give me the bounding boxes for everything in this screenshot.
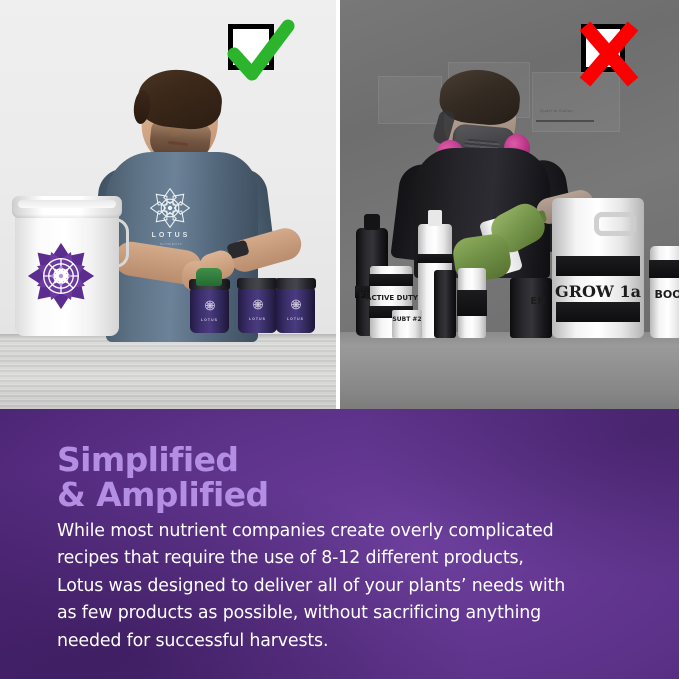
bottle-tape-label — [457, 290, 487, 316]
wall-paper-note — [378, 76, 442, 124]
bottle-neck — [428, 210, 442, 226]
body-line: as few products as possible, without sac… — [57, 600, 597, 627]
headline: Simplified & Amplified — [57, 442, 269, 512]
headline-line-2: & Amplified — [57, 477, 269, 512]
jug-tape-label — [649, 260, 679, 278]
white-small-bottle — [458, 268, 486, 338]
x-mark-icon — [581, 24, 633, 80]
lotus-jar: LOTUS — [276, 287, 315, 333]
tshirt-brand-wordmark: LOTUS — [146, 232, 196, 239]
lotus-jar: LOTUS — [190, 288, 229, 333]
lotus-jar: LOTUS — [238, 287, 277, 333]
dark-small-bottle — [434, 270, 456, 338]
bottle-cap — [364, 214, 380, 230]
body-line: needed for successful harvests. — [57, 628, 597, 655]
check-glyph — [228, 24, 298, 86]
bottle-tape-label — [417, 254, 453, 263]
body-line: While most nutrient companies create ove… — [57, 518, 597, 545]
photo-comparison-strip: LOTUS NUTRIENTS — [0, 0, 679, 409]
marketing-comparison-graphic: LOTUS NUTRIENTS — [0, 0, 679, 679]
wall-note-text: Quart to Gallon — [540, 108, 573, 113]
body-copy: While most nutrient companies create ove… — [57, 518, 597, 655]
tshirt-lotus-mandala-icon — [148, 186, 192, 230]
jar-lotus-icon — [288, 297, 303, 317]
bottle-handwritten-label: SUBT #2 — [392, 316, 421, 323]
jar-lid — [275, 278, 316, 289]
jar-wordmark: LOTUS — [287, 317, 304, 321]
bottle-handwritten-label: EN — [530, 296, 545, 307]
headline-line-1: Simplified — [57, 442, 269, 477]
body-line: recipes that require the use of 8-12 dif… — [57, 545, 597, 572]
check-mark-icon — [228, 24, 284, 80]
jar-lotus-icon — [250, 297, 265, 317]
jar-lotus-icon — [202, 298, 217, 318]
small-white-box — [392, 310, 422, 338]
body-line: Lotus was designed to deliver all of you… — [57, 573, 597, 600]
jug-tape-label — [556, 302, 640, 322]
wall-note-underline — [536, 120, 594, 122]
x-glyph — [581, 24, 637, 84]
jug-handle — [594, 212, 636, 236]
jar-wordmark: LOTUS — [201, 318, 218, 322]
dark-wide-bottle — [510, 278, 552, 338]
jug-handwritten-label: GROW 1a — [555, 282, 641, 301]
good-method-panel: LOTUS NUTRIENTS — [0, 0, 336, 409]
grow-room-floor — [340, 332, 679, 409]
jug-tape-label — [556, 256, 640, 276]
jar-lid — [237, 278, 278, 289]
bucket-lotus-mandala-icon — [25, 240, 97, 312]
jug-tape-label — [369, 274, 413, 286]
green-scoop — [196, 268, 222, 286]
jar-wordmark: LOTUS — [249, 317, 266, 321]
bad-method-panel: Quart to Gallon — [340, 0, 679, 409]
jug-handwritten-label: BOO — [654, 288, 679, 301]
bottle-handwritten-label: ACTIVE DUTY — [366, 294, 418, 302]
bucket-rim — [12, 196, 122, 218]
lotus-bucket — [12, 196, 122, 336]
wood-table-surface — [0, 334, 336, 409]
